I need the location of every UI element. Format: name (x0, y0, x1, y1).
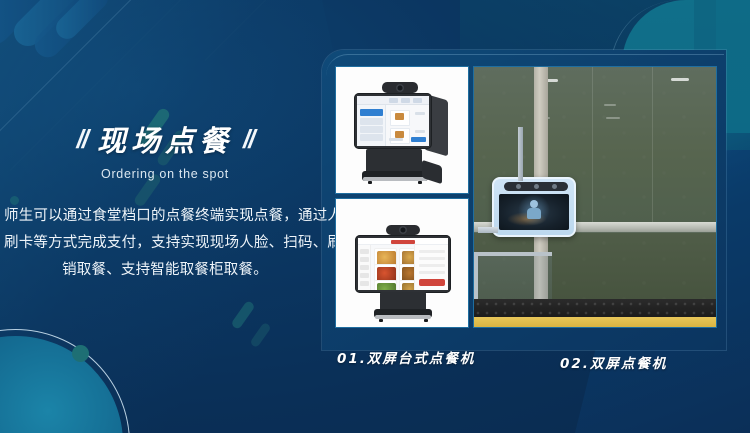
menu-ui-category (360, 273, 369, 278)
photo-dual-screen-desktop-pos-terminal[interactable] (335, 66, 469, 194)
photo-caption-2: 02.双屏点餐机 (560, 352, 667, 372)
headline-row: // 现场点餐 // (0, 126, 330, 156)
scene-glass-seam-v1 (592, 67, 593, 222)
pos-foot-b (379, 319, 383, 322)
photo-wall-mounted-face-recognition-terminal-scene[interactable] (473, 66, 717, 328)
menu-ui-dish-card (374, 280, 397, 290)
order-ui-side-item (360, 126, 383, 133)
face-recognition-terminal[interactable] (492, 177, 576, 237)
corridor-scene-illustration (474, 67, 716, 327)
silhouette-body (527, 208, 541, 219)
camera-module-a (382, 82, 418, 93)
menu-ui-category (360, 281, 369, 286)
order-ui-side-item-active (360, 109, 383, 116)
body-copy: 师生可以通过食堂档口的点餐终端实现点餐，通过人脸 刷卡等方式完成支付，支持实现现… (0, 203, 330, 284)
menu-ui-cart-line (419, 250, 445, 253)
camera-lens-icon (534, 184, 539, 189)
body-line-1: 师生可以通过食堂档口的点餐终端实现点餐，通过人脸 (4, 203, 326, 230)
menu-ui-cart-line (419, 271, 445, 274)
order-ui-footer-text (389, 138, 403, 141)
menu-ui-cart-line (419, 264, 445, 267)
menu-ui-category (360, 265, 369, 270)
camera-module-b (386, 225, 420, 235)
order-ui-tab-1 (389, 98, 398, 103)
terminal-camera-bar (504, 182, 568, 191)
pos-terminal-illustration-a (336, 67, 468, 193)
pos-foot-a (368, 181, 372, 184)
order-ui-side-item (360, 118, 383, 125)
decor-dot-teal (72, 345, 89, 362)
terminal-mount-arm (478, 227, 498, 233)
photo-dual-screen-ordering-terminal-menu[interactable] (335, 198, 469, 328)
order-ui-thumb (395, 131, 404, 138)
silhouette-head (530, 200, 538, 208)
body-line-2: 刷卡等方式完成支付，支持实现现场人脸、扫码、刷卡核 (4, 230, 326, 257)
order-ui-side-item (360, 134, 383, 141)
pos-stand-neck-a (366, 149, 422, 173)
camera-lens-icon (552, 184, 557, 189)
order-ui-confirm-button (411, 137, 426, 142)
order-ui-tab-2 (401, 98, 410, 103)
page-title: 现场点餐 (97, 126, 233, 156)
pos-foot-a (418, 181, 422, 184)
pos-base-strip-b (375, 315, 431, 319)
page-subtitle: Ordering on the spot (0, 167, 330, 181)
left-content-column: // 现场点餐 // Ordering on the spot 师生可以通过食堂… (0, 126, 330, 284)
body-line-3: 销取餐、支持智能取餐柜取餐。 (4, 257, 326, 284)
scene-support-pole (518, 127, 523, 181)
terminal-person-silhouette-icon (521, 198, 547, 224)
scene-yellow-safety-line (474, 317, 716, 327)
menu-ui-category (360, 257, 369, 262)
photo-column-left (335, 66, 469, 328)
scene-glass-seam-v2 (652, 67, 653, 222)
pos-screen-a (357, 96, 429, 146)
camera-lens-icon (516, 184, 521, 189)
scene-light-reflection (604, 104, 616, 106)
slash-mark-left-icon: // (77, 126, 87, 152)
slash-mark-right-icon: // (243, 126, 253, 152)
scene-light-reflection (671, 78, 689, 81)
order-ui-col-head (415, 112, 425, 115)
order-ui-thumb (395, 113, 404, 120)
dish-thumb (377, 283, 396, 290)
slide-root: // 现场点餐 // Ordering on the spot 师生可以通过食堂… (0, 0, 750, 433)
scene-floor-texture (474, 299, 716, 317)
scene-floor-mat (474, 299, 716, 317)
menu-ui-cart-line (419, 257, 445, 260)
menu-ui-pay-button (419, 279, 445, 286)
pos-terminal-illustration-b (336, 199, 468, 327)
order-ui-tab-3 (413, 98, 422, 103)
order-ui-col-head (415, 130, 425, 133)
scene-light-reflection (606, 117, 620, 119)
pos-screen-b (358, 238, 448, 290)
photo-caption-1: 01.双屏台式点餐机 (337, 347, 475, 367)
menu-ui-title (391, 240, 415, 244)
photo-gallery (335, 66, 717, 328)
menu-ui-category (360, 249, 369, 254)
terminal-display (499, 194, 569, 230)
pos-foot-b (424, 319, 428, 322)
